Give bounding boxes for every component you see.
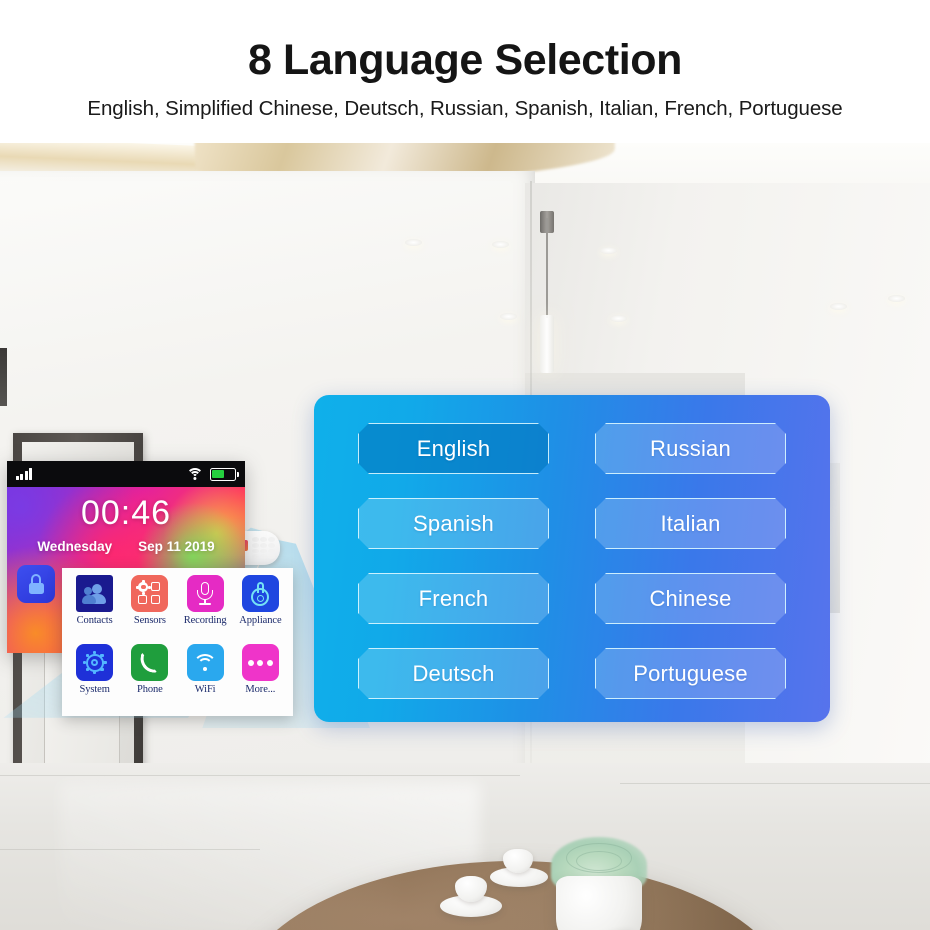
page-root: 8 Language Selection English, Simplified… [0, 0, 930, 930]
app-label: Contacts [77, 615, 113, 626]
app-item-wifi[interactable]: WiFi [179, 644, 232, 711]
recessed-downlight [830, 303, 847, 310]
device-date-row: Wednesday Sep 11 2019 [7, 539, 245, 554]
gear-icon [76, 644, 113, 681]
floor-tile-seam [620, 783, 930, 784]
pendant-lamp-shade [540, 315, 554, 373]
device-date: Sep 11 2019 [138, 539, 215, 554]
app-item-sensors[interactable]: Sensors [123, 575, 176, 642]
recessed-downlight [500, 313, 517, 320]
app-item-appliance[interactable]: Appliance [234, 575, 287, 642]
status-bar-right [186, 468, 236, 481]
language-button-french[interactable]: French [358, 573, 549, 624]
ellipsis-icon [242, 644, 279, 681]
floor-tile-seam [0, 775, 520, 776]
device-status-bar [7, 461, 245, 487]
wifi-icon [186, 468, 203, 481]
app-label: Appliance [239, 615, 281, 626]
keypad-buttons[interactable] [252, 537, 275, 559]
app-item-system[interactable]: System [68, 644, 121, 711]
recessed-downlight [888, 295, 905, 302]
app-label: System [79, 684, 109, 695]
app-label: Sensors [134, 615, 166, 626]
lock-icon[interactable] [17, 565, 55, 603]
app-item-recording[interactable]: Recording [179, 575, 232, 642]
language-button-deutsch[interactable]: Deutsch [358, 648, 549, 699]
recessed-downlight [492, 241, 509, 248]
page-subtitle: English, Simplified Chinese, Deutsch, Ru… [0, 95, 930, 123]
battery-icon [210, 468, 236, 481]
app-label: More... [245, 684, 275, 695]
app-item-contacts[interactable]: Contacts [68, 575, 121, 642]
wall-art-edge [0, 348, 7, 406]
header: 8 Language Selection English, Simplified… [0, 0, 930, 143]
wifi-icon [187, 644, 224, 681]
device-weekday: Wednesday [37, 539, 112, 554]
app-label: WiFi [195, 684, 216, 695]
app-grid: Contacts Sensors [68, 575, 287, 711]
signal-bars-icon [16, 468, 32, 480]
app-label: Recording [184, 615, 227, 626]
microphone-icon [187, 575, 224, 612]
room-scene-image: Harper Lee To Kill a Mockingbird Mocking… [0, 143, 930, 930]
app-grid-panel: Contacts Sensors [62, 568, 293, 716]
device-clock: 00:46 [7, 494, 245, 533]
phone-icon [131, 644, 168, 681]
app-item-phone[interactable]: Phone [123, 644, 176, 711]
plant-leaf-ring [576, 851, 622, 871]
recessed-downlight [405, 239, 422, 246]
contacts-icon [76, 575, 113, 612]
lock-glyph-icon [29, 574, 44, 594]
language-button-spanish[interactable]: Spanish [358, 498, 549, 549]
language-button-chinese[interactable]: Chinese [595, 573, 786, 624]
app-item-more[interactable]: More... [234, 644, 287, 711]
language-selection-panel: English Russian Spanish Italian French C… [314, 395, 830, 722]
sensors-icon [131, 575, 168, 612]
pendant-lamp-rod [546, 218, 548, 318]
recessed-downlight [610, 315, 627, 322]
language-button-portuguese[interactable]: Portuguese [595, 648, 786, 699]
app-label: Phone [137, 684, 163, 695]
floor-tile-seam [0, 849, 260, 850]
language-button-russian[interactable]: Russian [595, 423, 786, 474]
page-title: 8 Language Selection [0, 33, 930, 87]
bulb-icon [242, 575, 279, 612]
language-button-english[interactable]: English [358, 423, 549, 474]
recessed-downlight [600, 247, 617, 254]
plant-pot [556, 876, 642, 930]
language-button-italian[interactable]: Italian [595, 498, 786, 549]
